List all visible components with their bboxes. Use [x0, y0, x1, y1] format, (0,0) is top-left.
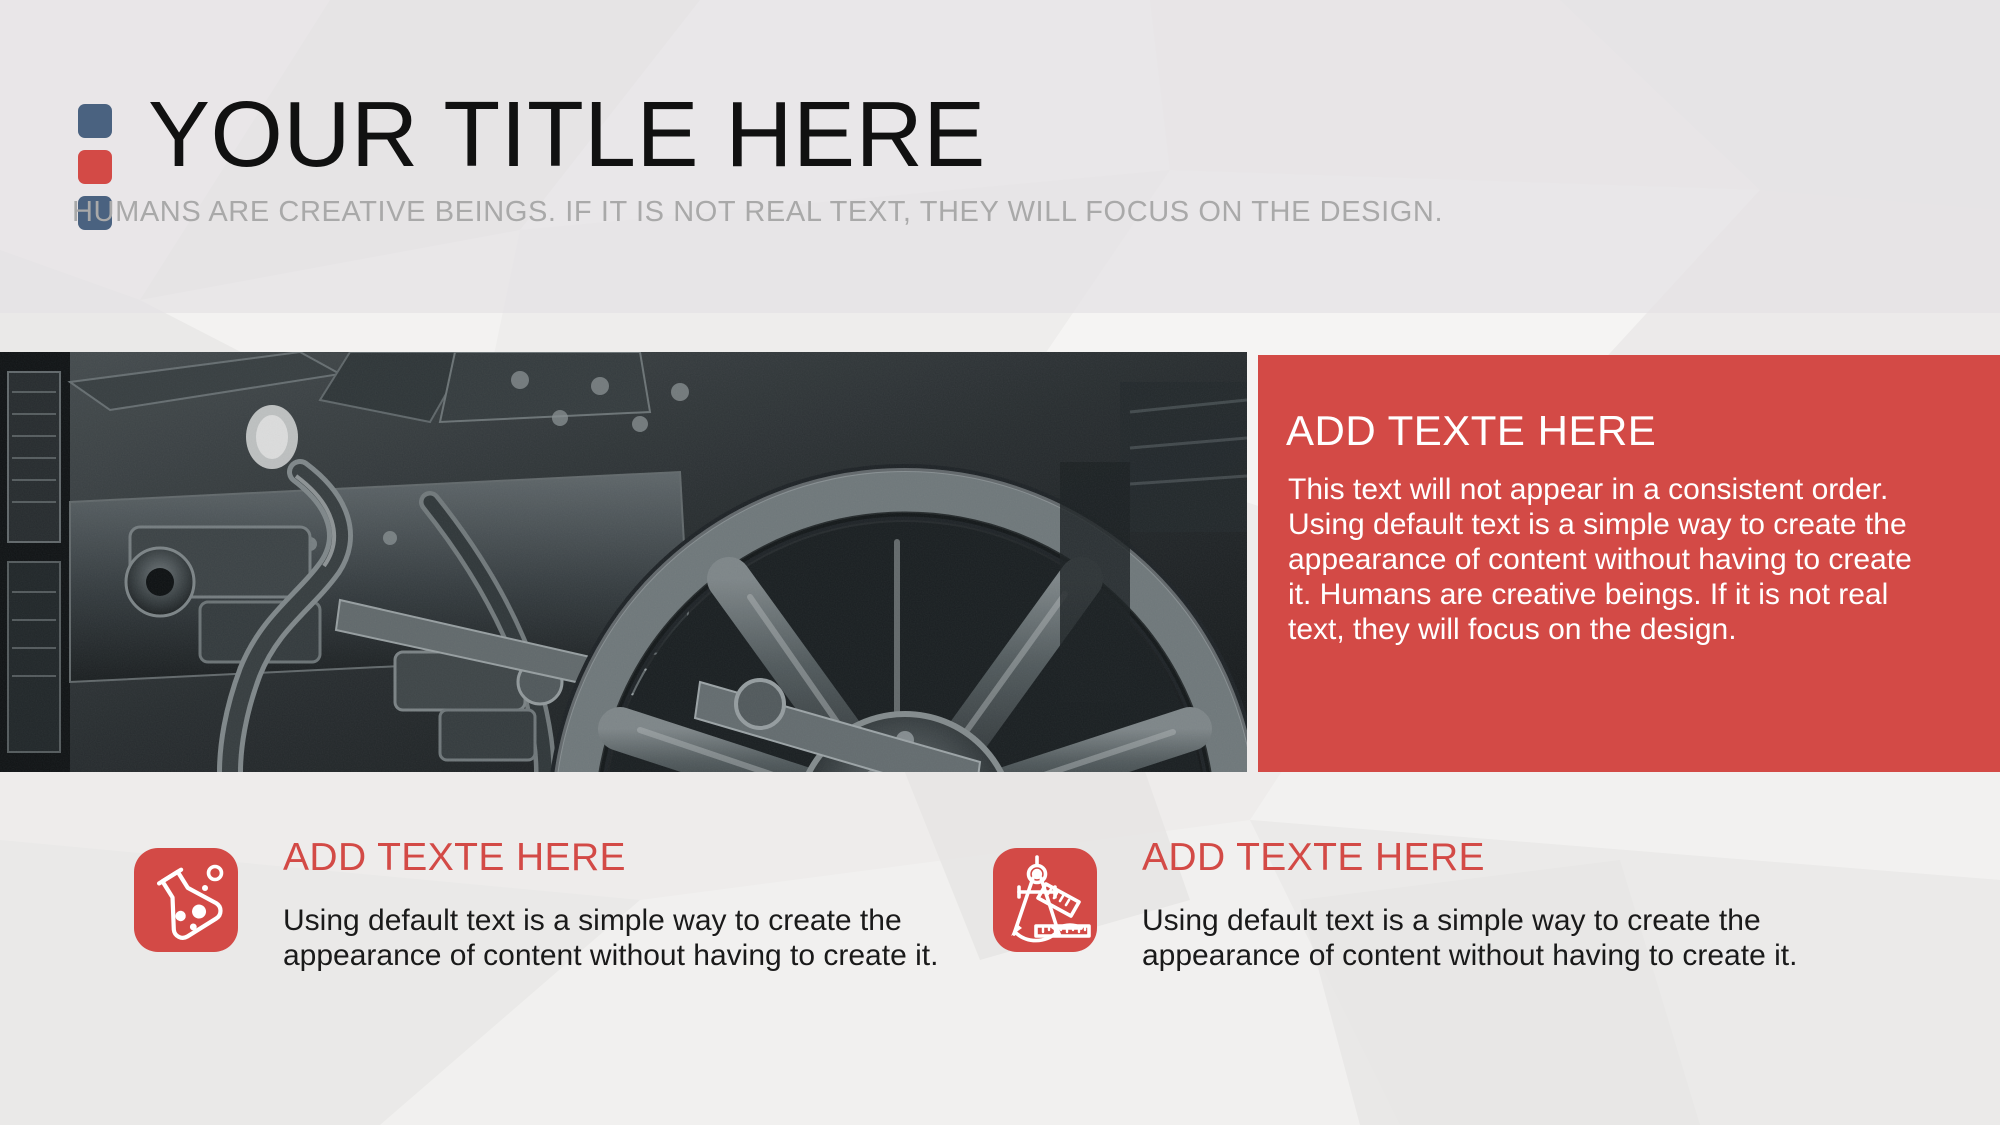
feature-heading: ADD TEXTE HERE [283, 838, 953, 877]
feature-body: Using default text is a simple way to cr… [1142, 903, 1812, 973]
feature-heading: ADD TEXTE HERE [1142, 838, 1812, 877]
feature-row: ADD TEXTE HERE Using default text is a s… [0, 838, 2000, 1068]
feature-item-drafting: ADD TEXTE HERE Using default text is a s… [993, 838, 1812, 973]
locomotive-photo [0, 352, 1247, 772]
feature-text-block: ADD TEXTE HERE Using default text is a s… [1142, 838, 1812, 973]
page-title: YOUR TITLE HERE [148, 88, 986, 181]
feature-text-block: ADD TEXTE HERE Using default text is a s… [283, 838, 953, 973]
title-mark-navy-top [78, 104, 112, 138]
page-subtitle: HUMANS ARE CREATIVE BEINGS. IF IT IS NOT… [72, 198, 1443, 227]
compass-ruler-icon [993, 848, 1097, 952]
compass-ruler-icon-glyph [993, 848, 1097, 952]
locomotive-wheel-photo [0, 352, 1247, 772]
feature-body: Using default text is a simple way to cr… [283, 903, 953, 973]
flask-icon [134, 848, 238, 952]
red-text-panel: ADD TEXTE HERE This text will not appear… [1258, 355, 2000, 772]
title-mark-red-middle [78, 150, 112, 184]
feature-item-flask: ADD TEXTE HERE Using default text is a s… [134, 838, 953, 973]
presentation-slide: YOUR TITLE HERE HUMANS ARE CREATIVE BEIN… [0, 0, 2000, 1125]
red-panel-body: This text will not appear in a consisten… [1288, 472, 1913, 647]
red-panel-heading: ADD TEXTE HERE [1286, 407, 1656, 455]
flask-icon-glyph [134, 848, 238, 952]
